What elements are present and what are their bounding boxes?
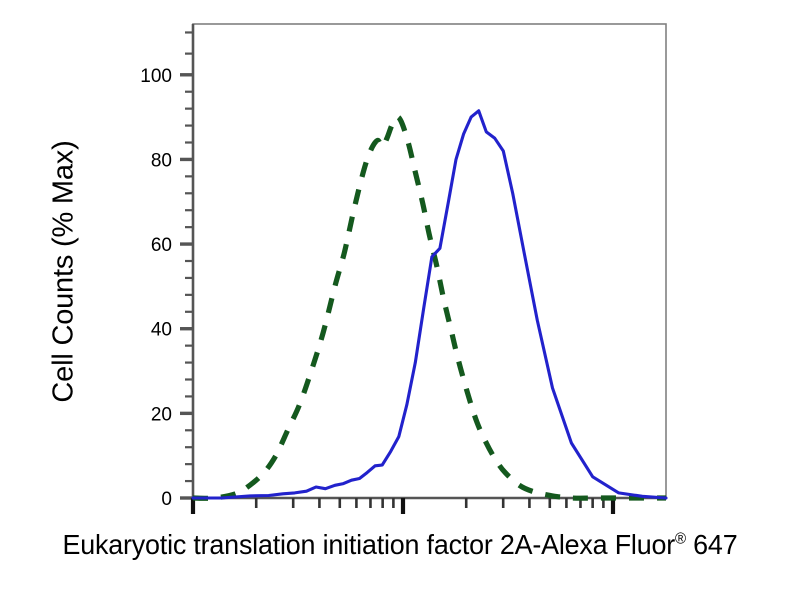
x-axis-label-tail: 647: [686, 529, 738, 560]
histogram-plot: 020406080100: [0, 0, 800, 600]
y-axis-label: Cell Counts (% Max): [48, 122, 81, 422]
x-axis-label-main: Eukaryotic translation initiation factor…: [63, 529, 675, 560]
y-axis-tick-labels: 020406080100: [140, 66, 172, 510]
registered-trademark-icon: ®: [675, 531, 686, 548]
figure-root: 020406080100 Cell Counts (% Max) Eukaryo…: [0, 0, 800, 600]
y-tick-label: 20: [151, 404, 172, 425]
y-tick-label: 0: [161, 489, 172, 510]
y-tick-label: 80: [151, 150, 172, 171]
y-tick-label: 40: [151, 320, 172, 341]
y-axis-ticks: [180, 32, 193, 498]
x-axis-label: Eukaryotic translation initiation factor…: [16, 529, 784, 561]
x-axis-ticks: [193, 498, 613, 514]
y-tick-label: 60: [151, 235, 172, 256]
plot-frame: [193, 24, 666, 498]
y-tick-label: 100: [140, 66, 172, 87]
